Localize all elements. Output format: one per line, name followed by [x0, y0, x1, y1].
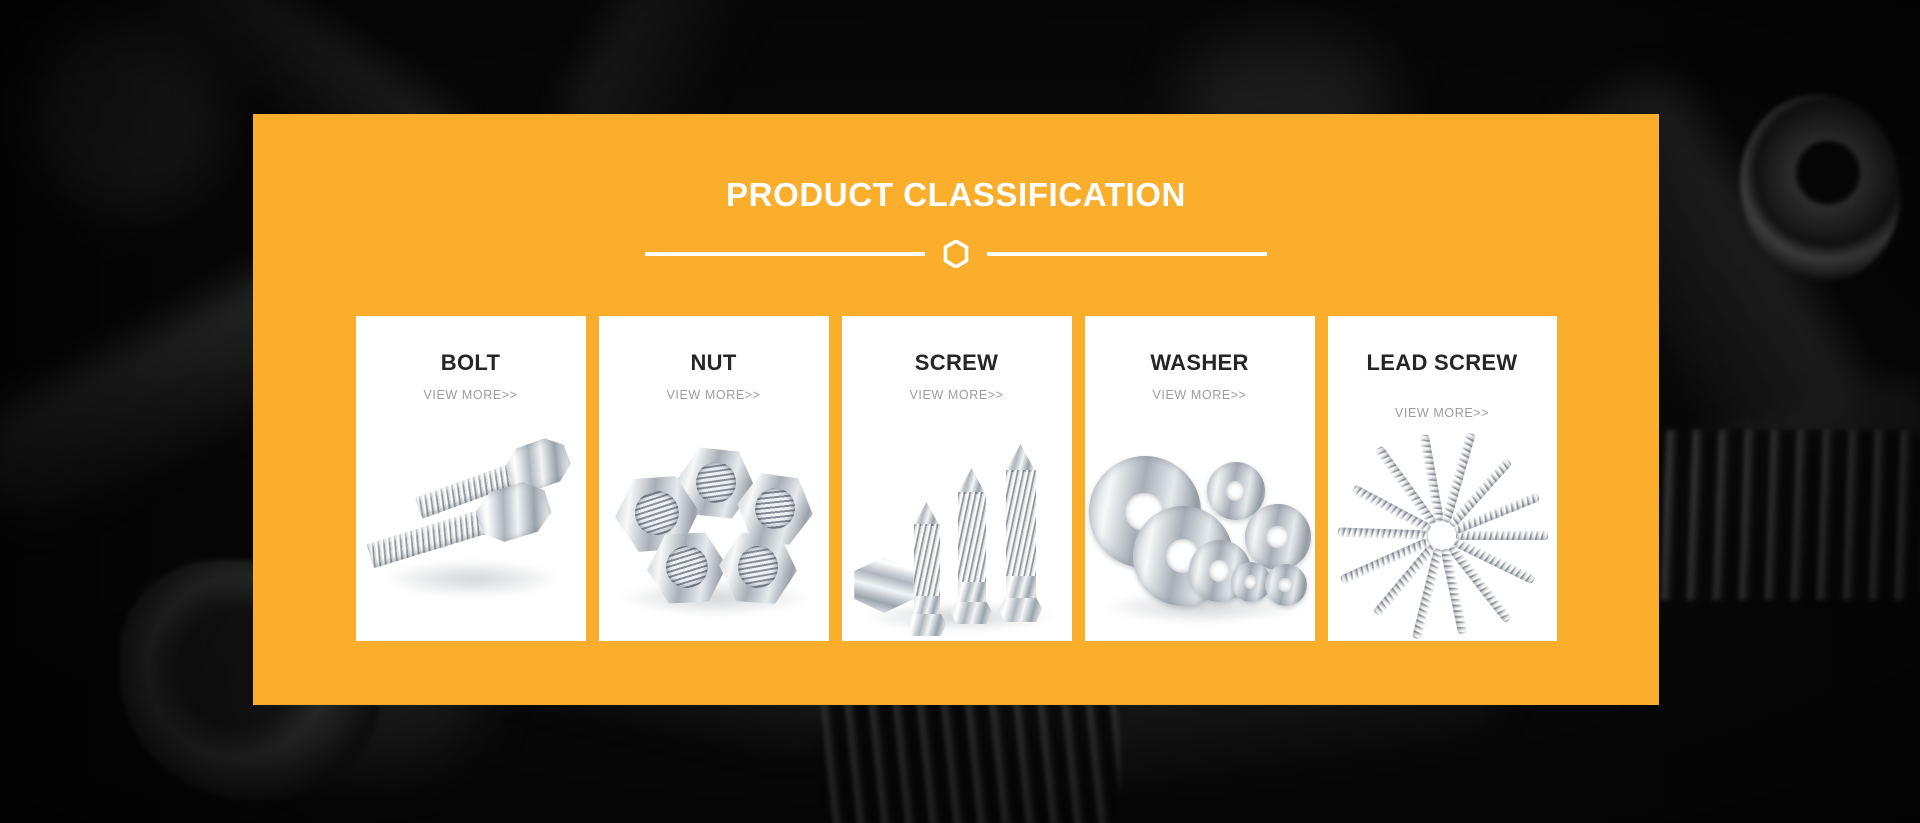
- category-card-nut[interactable]: NUT VIEW MORE>>: [599, 316, 829, 641]
- category-card-list: BOLT VIEW MORE>> NUT VIEW MORE>>: [253, 316, 1659, 641]
- card-title: WASHER: [1085, 350, 1315, 376]
- flat-washers-image: [1085, 440, 1315, 635]
- title-divider: [253, 240, 1659, 268]
- hex-bolts-image: [356, 440, 586, 635]
- view-more-link[interactable]: VIEW MORE>>: [599, 388, 829, 402]
- view-more-link[interactable]: VIEW MORE>>: [1085, 388, 1315, 402]
- view-more-link[interactable]: VIEW MORE>>: [1328, 406, 1557, 420]
- category-card-screw[interactable]: SCREW VIEW MORE>>: [842, 316, 1072, 641]
- divider-rule-left: [645, 252, 925, 256]
- category-card-washer[interactable]: WASHER VIEW MORE>>: [1085, 316, 1315, 641]
- category-card-lead-screw[interactable]: LEAD SCREW VIEW MORE>>: [1328, 316, 1557, 641]
- card-title: BOLT: [356, 350, 586, 376]
- hex-nut-icon: [943, 240, 969, 268]
- category-card-bolt[interactable]: BOLT VIEW MORE>>: [356, 316, 586, 641]
- divider-rule-right: [987, 252, 1267, 256]
- threaded-rods-image: [1328, 442, 1557, 627]
- card-title: SCREW: [842, 350, 1072, 376]
- lag-screws-image: [842, 440, 1072, 635]
- page-title: PRODUCT CLASSIFICATION: [253, 176, 1659, 214]
- card-title: LEAD SCREW: [1328, 350, 1557, 376]
- view-more-link[interactable]: VIEW MORE>>: [356, 388, 586, 402]
- hex-nuts-image: [599, 440, 829, 635]
- view-more-link[interactable]: VIEW MORE>>: [842, 388, 1072, 402]
- card-title: NUT: [599, 350, 829, 376]
- product-classification-panel: PRODUCT CLASSIFICATION BOLT VIEW MORE>>: [253, 114, 1659, 705]
